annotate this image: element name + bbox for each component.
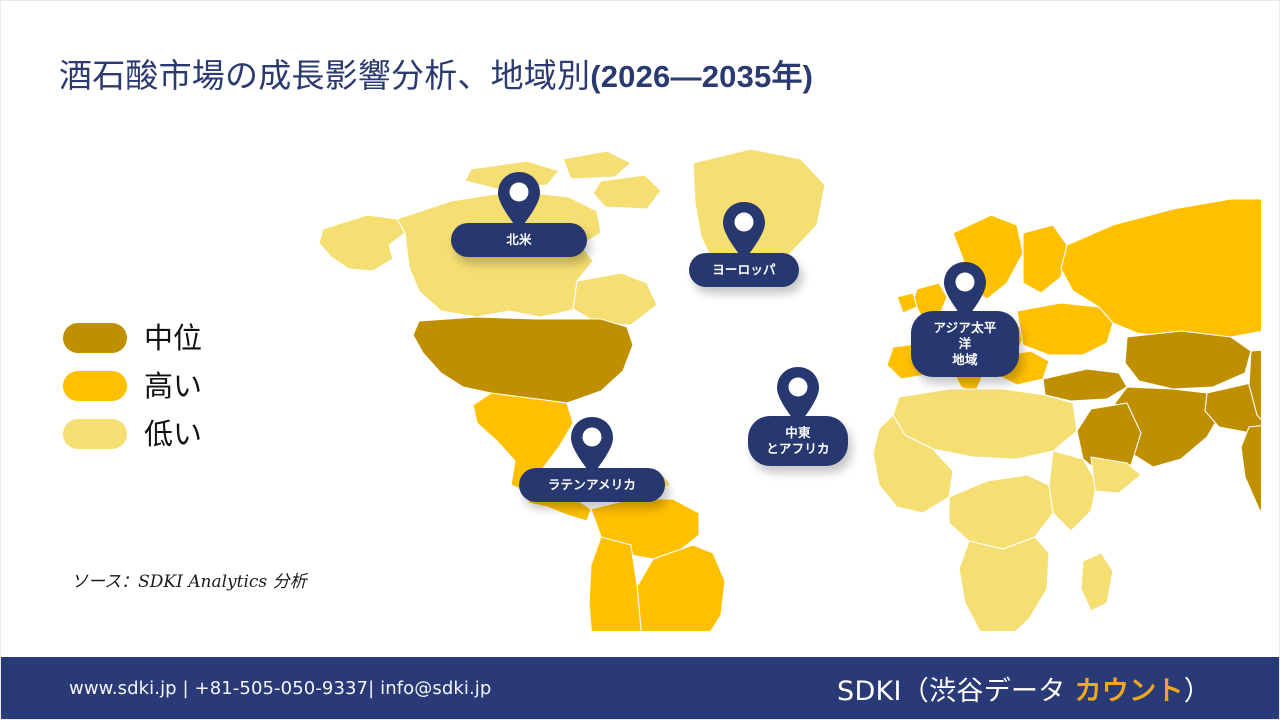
legend: 中位 高い 低い: [63, 315, 303, 459]
legend-swatch-low: [63, 419, 127, 449]
footer-brand: SDKI（渋谷データ カウント）: [837, 669, 1211, 708]
region-finland-baltic: [1023, 225, 1067, 293]
pin-label-north-america[interactable]: 北米: [451, 223, 587, 257]
brand-prefix: SDKI（渋谷データ: [837, 676, 1074, 707]
pin-label-middle-east-africa[interactable]: 中東 とアフリカ: [748, 416, 848, 466]
region-canada-east: [573, 273, 657, 325]
region-caucasus-kazakhstan: [1125, 331, 1251, 389]
legend-item-high: 高い: [63, 363, 303, 409]
region-central-africa: [949, 475, 1053, 549]
legend-label-high: 高い: [144, 372, 202, 401]
legend-swatch-medium: [63, 323, 127, 353]
slide-canvas: 酒石酸市場の成長影響分析、地域別(2026—2035年) 中位 高い 低い ソー…: [0, 0, 1280, 720]
page-title-main: 酒石酸市場の成長影響分析、地域別: [59, 59, 590, 95]
region-united-states: [413, 317, 633, 407]
brand-suffix: ）: [1184, 676, 1211, 707]
region-southern-africa: [959, 537, 1049, 631]
legend-item-low: 低い: [63, 411, 303, 457]
region-alaska: [319, 215, 405, 271]
legend-label-medium: 中位: [144, 324, 202, 353]
source-note: ソース：SDKI Analytics 分析: [71, 567, 307, 592]
page-title-period: (2026—2035年): [590, 59, 813, 94]
region-horn-of-africa: [1091, 457, 1141, 493]
region-ireland: [897, 293, 917, 313]
legend-item-medium: 中位: [63, 315, 303, 361]
pin-label-asia-pacific[interactable]: アジア太平洋 地域: [911, 311, 1019, 377]
region-madagascar: [1081, 553, 1113, 611]
footer-bar: www.sdki.jp | +81-505-050-9337| info@sdk…: [1, 657, 1279, 719]
map-pin-icon: [570, 416, 614, 476]
legend-label-low: 低い: [144, 420, 202, 449]
region-india: [1241, 423, 1261, 525]
region-turkey: [1043, 369, 1127, 401]
map-pin-icon: [497, 171, 541, 231]
page-title: 酒石酸市場の成長影響分析、地域別(2026—2035年): [59, 55, 1159, 99]
brand-accent: カウント: [1074, 676, 1183, 707]
map-pin-icon: [722, 201, 766, 261]
world-map: .low { fill:#F5DE72; stroke:#ffffff; str…: [301, 141, 1261, 631]
region-eastern-europe: [1017, 303, 1113, 355]
pin-label-latin-america[interactable]: ラテンアメリカ: [519, 468, 665, 502]
region-baffin: [593, 175, 661, 209]
footer-contact[interactable]: www.sdki.jp | +81-505-050-9337| info@sdk…: [69, 678, 491, 699]
legend-swatch-high: [63, 371, 127, 401]
pin-label-europe[interactable]: ヨーロッパ: [689, 253, 799, 287]
region-arctic-islands-2: [563, 151, 631, 179]
